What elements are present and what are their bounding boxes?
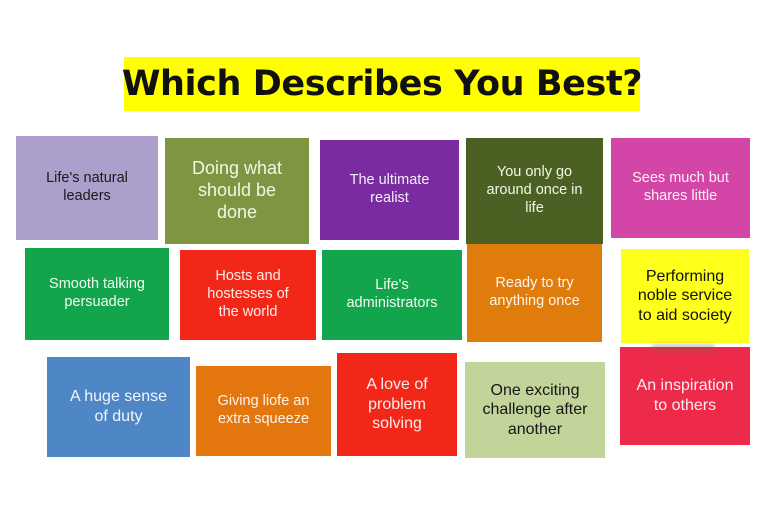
trait-cell-label: Smooth talking persuader <box>31 276 163 311</box>
trait-cell-label: You only go around once in life <box>472 164 597 217</box>
trait-cell-label: Performing noble service to aid society <box>627 267 743 326</box>
trait-cell-label: A huge sense of duty <box>53 387 184 426</box>
print-artifact-smudge <box>652 344 714 353</box>
trait-cell[interactable]: Sees much but shares little <box>611 138 750 238</box>
personality-grid-poster: Which Describes You Best? Life's natural… <box>0 0 768 512</box>
trait-cell[interactable]: Ready to try anything once <box>467 244 602 342</box>
trait-cell-label: The ultimate realist <box>326 172 453 207</box>
trait-cell[interactable]: Giving liofe an extra squeeze <box>196 366 331 456</box>
trait-cell-label: A love of problem solving <box>343 375 451 434</box>
trait-cell[interactable]: Doing what should be done <box>165 138 309 244</box>
trait-cell[interactable]: Performing noble service to aid society <box>621 249 749 343</box>
trait-cell[interactable]: A huge sense of duty <box>47 357 190 457</box>
trait-cell[interactable]: An inspiration to others <box>620 347 750 445</box>
trait-cell-label: One exciting challenge after another <box>471 381 599 440</box>
trait-cell-label: Ready to try anything once <box>473 275 596 310</box>
trait-cell[interactable]: Life's natural leaders <box>16 136 158 240</box>
trait-cell-label: Hosts and hostesses of the world <box>186 268 310 321</box>
trait-cell-label: Life's administrators <box>328 277 456 312</box>
trait-cell-label: Giving liofe an extra squeeze <box>202 393 325 428</box>
trait-cell[interactable]: Hosts and hostesses of the world <box>180 250 316 340</box>
trait-cell[interactable]: You only go around once in life <box>466 138 603 244</box>
trait-cell[interactable]: One exciting challenge after another <box>465 362 605 458</box>
trait-cell[interactable]: Smooth talking persuader <box>25 248 169 340</box>
trait-cell-label: Life's natural leaders <box>22 170 152 205</box>
trait-cell-label: An inspiration to others <box>626 376 744 415</box>
trait-cell[interactable]: The ultimate realist <box>320 140 459 240</box>
trait-cell[interactable]: A love of problem solving <box>337 353 457 456</box>
trait-cell[interactable]: Life's administrators <box>322 250 462 340</box>
title-banner: Which Describes You Best? <box>124 57 640 111</box>
trait-cell-label: Doing what should be done <box>171 158 303 224</box>
page-title: Which Describes You Best? <box>122 67 642 102</box>
trait-cell-label: Sees much but shares little <box>617 170 744 205</box>
